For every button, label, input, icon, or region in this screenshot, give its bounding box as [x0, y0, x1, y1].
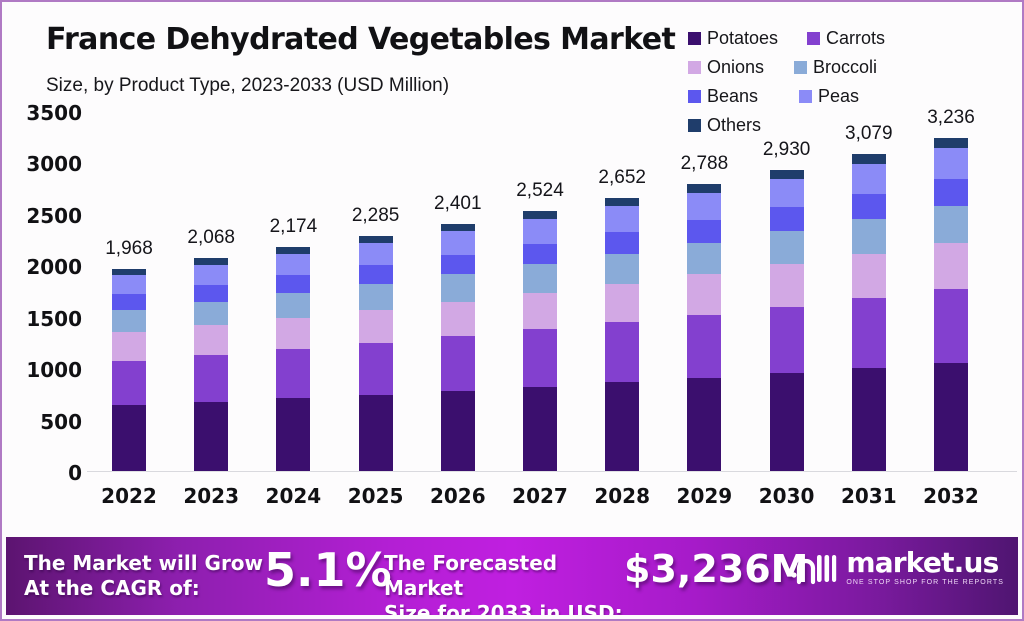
bar-segment-potatoes[interactable] — [276, 398, 310, 471]
bar-segment-carrots[interactable] — [770, 307, 804, 373]
cagr-value: 5.1% — [264, 543, 392, 597]
bar-segment-others[interactable] — [934, 138, 968, 148]
legend-swatch-icon — [688, 32, 701, 45]
legend-label: Peas — [818, 86, 859, 107]
bar-segment-potatoes[interactable] — [605, 382, 639, 471]
bar-segment-peas[interactable] — [112, 275, 146, 294]
bar-value-label: 1,968 — [105, 238, 153, 260]
x-axis-tick-label: 2022 — [84, 484, 174, 508]
forecast-label: The Forecasted Market Size for 2033 in U… — [384, 551, 634, 615]
bar-segment-beans[interactable] — [194, 285, 228, 302]
bar-segment-carrots[interactable] — [441, 336, 475, 390]
legend-label: Onions — [707, 57, 764, 78]
bar-segment-carrots[interactable] — [276, 349, 310, 398]
bar-segment-onions[interactable] — [523, 293, 557, 329]
bar-segment-peas[interactable] — [276, 254, 310, 275]
y-axis-tick-label: 1000 — [10, 358, 82, 382]
bar-segment-beans[interactable] — [934, 179, 968, 206]
bar-segment-broccoli[interactable] — [523, 264, 557, 293]
bar-segment-broccoli[interactable] — [359, 284, 393, 310]
bar-segment-beans[interactable] — [112, 294, 146, 310]
legend-item-carrots[interactable]: Carrots — [807, 24, 912, 53]
forecast-label-line1: The Forecasted Market — [384, 551, 634, 601]
bar-segment-carrots[interactable] — [934, 289, 968, 362]
y-axis-tick-label: 2500 — [10, 204, 82, 228]
bar-group[interactable]: 2,174 — [276, 247, 310, 471]
bar-segment-others[interactable] — [441, 224, 475, 231]
stacked-bar[interactable]: 2,401 — [441, 224, 475, 471]
legend-swatch-icon — [799, 90, 812, 103]
bar-segment-carrots[interactable] — [194, 355, 228, 402]
y-axis-tick-label: 3500 — [10, 101, 82, 125]
bar-value-label: 3,236 — [927, 107, 975, 129]
x-axis-line — [87, 471, 1017, 472]
bar-segment-peas[interactable] — [441, 231, 475, 254]
bar-segment-beans[interactable] — [770, 207, 804, 231]
bar-value-label: 2,930 — [763, 139, 811, 161]
logo-tagline: ONE STOP SHOP FOR THE REPORTS — [846, 579, 1004, 586]
x-axis-tick-label: 2031 — [824, 484, 914, 508]
bar-segment-others[interactable] — [359, 236, 393, 243]
x-axis-tick-label: 2023 — [166, 484, 256, 508]
bar-segment-broccoli[interactable] — [934, 206, 968, 243]
bar-segment-others[interactable] — [852, 154, 886, 163]
bar-segment-onions[interactable] — [687, 274, 721, 314]
bar-segment-onions[interactable] — [441, 302, 475, 337]
bar-segment-peas[interactable] — [359, 243, 393, 265]
bar-segment-onions[interactable] — [112, 332, 146, 360]
bar-value-label: 3,079 — [845, 123, 893, 145]
bar-value-label: 2,788 — [681, 153, 729, 175]
bar-segment-others[interactable] — [276, 247, 310, 254]
bar-value-label: 2,068 — [187, 227, 235, 249]
bar-group[interactable]: 3,236 — [934, 138, 968, 471]
bar-group[interactable]: 2,068 — [194, 258, 228, 471]
footer-banner: The Market will Grow At the CAGR of: 5.1… — [6, 537, 1018, 615]
x-axis-tick-label: 2032 — [906, 484, 996, 508]
bar-segment-broccoli[interactable] — [112, 310, 146, 332]
bar-group[interactable]: 2,652 — [605, 198, 639, 471]
legend-item-peas[interactable]: Peas — [799, 82, 899, 111]
bar-segment-broccoli[interactable] — [605, 254, 639, 284]
bar-segment-beans[interactable] — [605, 232, 639, 254]
bar-segment-broccoli[interactable] — [852, 219, 886, 254]
legend-swatch-icon — [794, 61, 807, 74]
bar-value-label: 2,524 — [516, 180, 564, 202]
stacked-bar[interactable]: 2,930 — [770, 170, 804, 471]
bar-segment-broccoli[interactable] — [276, 293, 310, 318]
y-axis-tick-label: 1500 — [10, 307, 82, 331]
bar-group[interactable]: 1,968 — [112, 269, 146, 471]
bar-segment-peas[interactable] — [605, 206, 639, 232]
bar-segment-beans[interactable] — [523, 244, 557, 265]
logo-name: market.us — [846, 549, 1004, 577]
bar-segment-broccoli[interactable] — [194, 302, 228, 325]
page-title: France Dehydrated Vegetables Market — [46, 22, 675, 57]
x-axis-tick-label: 2029 — [659, 484, 749, 508]
bar-segment-onions[interactable] — [359, 310, 393, 343]
legend-item-broccoli[interactable]: Broccoli — [794, 53, 907, 82]
chart-axes: 1,96820222,06820232,17420242,28520252,40… — [87, 112, 1017, 472]
y-axis-labels: 0500100015002000250030003500 — [2, 112, 82, 472]
y-axis-tick-label: 3000 — [10, 152, 82, 176]
stacked-bar[interactable]: 2,068 — [194, 258, 228, 471]
cagr-label-line1: The Market will Grow — [24, 551, 264, 576]
legend-swatch-icon — [688, 61, 701, 74]
legend-swatch-icon — [688, 90, 701, 103]
bar-segment-onions[interactable] — [934, 243, 968, 290]
bar-segment-peas[interactable] — [934, 148, 968, 179]
bar-segment-carrots[interactable] — [687, 315, 721, 378]
bar-segment-potatoes[interactable] — [441, 391, 475, 471]
bar-segment-broccoli[interactable] — [441, 274, 475, 301]
forecast-value: $3,236M — [624, 547, 808, 591]
bar-segment-others[interactable] — [770, 170, 804, 179]
bar-segment-beans[interactable] — [852, 194, 886, 219]
stacked-bar[interactable]: 3,079 — [852, 154, 886, 471]
stacked-bar[interactable]: 2,788 — [687, 184, 721, 471]
legend-label: Carrots — [826, 28, 885, 49]
bar-segment-peas[interactable] — [687, 193, 721, 220]
bar-segment-onions[interactable] — [605, 284, 639, 322]
bar-segment-carrots[interactable] — [523, 329, 557, 386]
bar-segment-others[interactable] — [687, 184, 721, 192]
x-axis-tick-label: 2026 — [413, 484, 503, 508]
bar-segment-broccoli[interactable] — [770, 231, 804, 264]
bar-segment-carrots[interactable] — [605, 322, 639, 382]
stacked-bar[interactable]: 2,285 — [359, 236, 393, 471]
y-axis-tick-label: 0 — [10, 461, 82, 485]
legend-item-beans[interactable]: Beans — [688, 82, 793, 111]
chart-subtitle: Size, by Product Type, 2023-2033 (USD Mi… — [46, 75, 449, 97]
bar-segment-onions[interactable] — [276, 318, 310, 349]
bar-segment-carrots[interactable] — [112, 361, 146, 406]
bar-segment-others[interactable] — [605, 198, 639, 206]
bar-segment-peas[interactable] — [194, 265, 228, 285]
legend-item-potatoes[interactable]: Potatoes — [688, 24, 801, 53]
bar-segment-potatoes[interactable] — [359, 395, 393, 471]
bar-group[interactable]: 2,401 — [441, 224, 475, 471]
bar-segment-peas[interactable] — [770, 179, 804, 207]
bar-segment-potatoes[interactable] — [934, 363, 968, 471]
bar-segment-potatoes[interactable] — [112, 405, 146, 471]
legend-label: Potatoes — [707, 28, 778, 49]
chart-infographic: France Dehydrated Vegetables Market Size… — [0, 0, 1024, 621]
market-us-logo: market.us ONE STOP SHOP FOR THE REPORTS — [791, 549, 1004, 586]
bar-group[interactable]: 2,788 — [687, 184, 721, 471]
legend-swatch-icon — [807, 32, 820, 45]
bar-value-label: 2,652 — [598, 167, 646, 189]
y-axis-tick-label: 2000 — [10, 255, 82, 279]
bar-segment-onions[interactable] — [770, 264, 804, 306]
bar-segment-onions[interactable] — [194, 325, 228, 355]
x-axis-tick-label: 2025 — [331, 484, 421, 508]
bar-segment-peas[interactable] — [523, 219, 557, 244]
forecast-label-line2: Size for 2033 in USD: — [384, 601, 634, 615]
stacked-bar[interactable]: 2,174 — [276, 247, 310, 471]
bar-group[interactable]: 2,930 — [770, 170, 804, 471]
legend-item-onions[interactable]: Onions — [688, 53, 788, 82]
bar-segment-potatoes[interactable] — [194, 402, 228, 471]
bar-group[interactable]: 2,524 — [523, 211, 557, 471]
x-axis-tick-label: 2024 — [248, 484, 338, 508]
bar-value-label: 2,285 — [352, 205, 400, 227]
legend-label: Beans — [707, 86, 758, 107]
x-axis-tick-label: 2030 — [742, 484, 832, 508]
bar-group[interactable]: 3,079 — [852, 154, 886, 471]
bar-segment-carrots[interactable] — [852, 298, 886, 368]
bar-segment-broccoli[interactable] — [687, 243, 721, 275]
x-axis-tick-label: 2027 — [495, 484, 585, 508]
bar-value-label: 2,401 — [434, 193, 482, 215]
x-axis-tick-label: 2028 — [577, 484, 667, 508]
cagr-label: The Market will Grow At the CAGR of: — [24, 551, 264, 601]
stacked-bar[interactable]: 3,236 — [934, 138, 968, 471]
bar-segment-peas[interactable] — [852, 164, 886, 194]
bar-segment-potatoes[interactable] — [523, 387, 557, 471]
bar-segment-onions[interactable] — [852, 254, 886, 298]
cagr-label-line2: At the CAGR of: — [24, 576, 264, 601]
logo-text: market.us ONE STOP SHOP FOR THE REPORTS — [846, 549, 1004, 586]
stacked-bar[interactable]: 1,968 — [112, 269, 146, 471]
bar-segment-carrots[interactable] — [359, 343, 393, 395]
bar-segment-beans[interactable] — [687, 220, 721, 243]
bar-segment-potatoes[interactable] — [852, 368, 886, 471]
bar-group[interactable]: 2,285 — [359, 236, 393, 471]
bar-segment-others[interactable] — [523, 211, 557, 219]
market-us-logo-icon — [791, 551, 837, 585]
bar-value-label: 2,174 — [270, 216, 318, 238]
stacked-bar[interactable]: 2,524 — [523, 211, 557, 471]
bar-segment-beans[interactable] — [441, 255, 475, 275]
bar-segment-beans[interactable] — [359, 265, 393, 284]
stacked-bar[interactable]: 2,652 — [605, 198, 639, 471]
bar-segment-beans[interactable] — [276, 275, 310, 293]
legend-label: Broccoli — [813, 57, 877, 78]
bar-segment-potatoes[interactable] — [687, 378, 721, 471]
y-axis-tick-label: 500 — [10, 410, 82, 434]
chart-plot-area: 0500100015002000250030003500 1,96820222,… — [2, 112, 1024, 522]
bar-segment-potatoes[interactable] — [770, 373, 804, 471]
